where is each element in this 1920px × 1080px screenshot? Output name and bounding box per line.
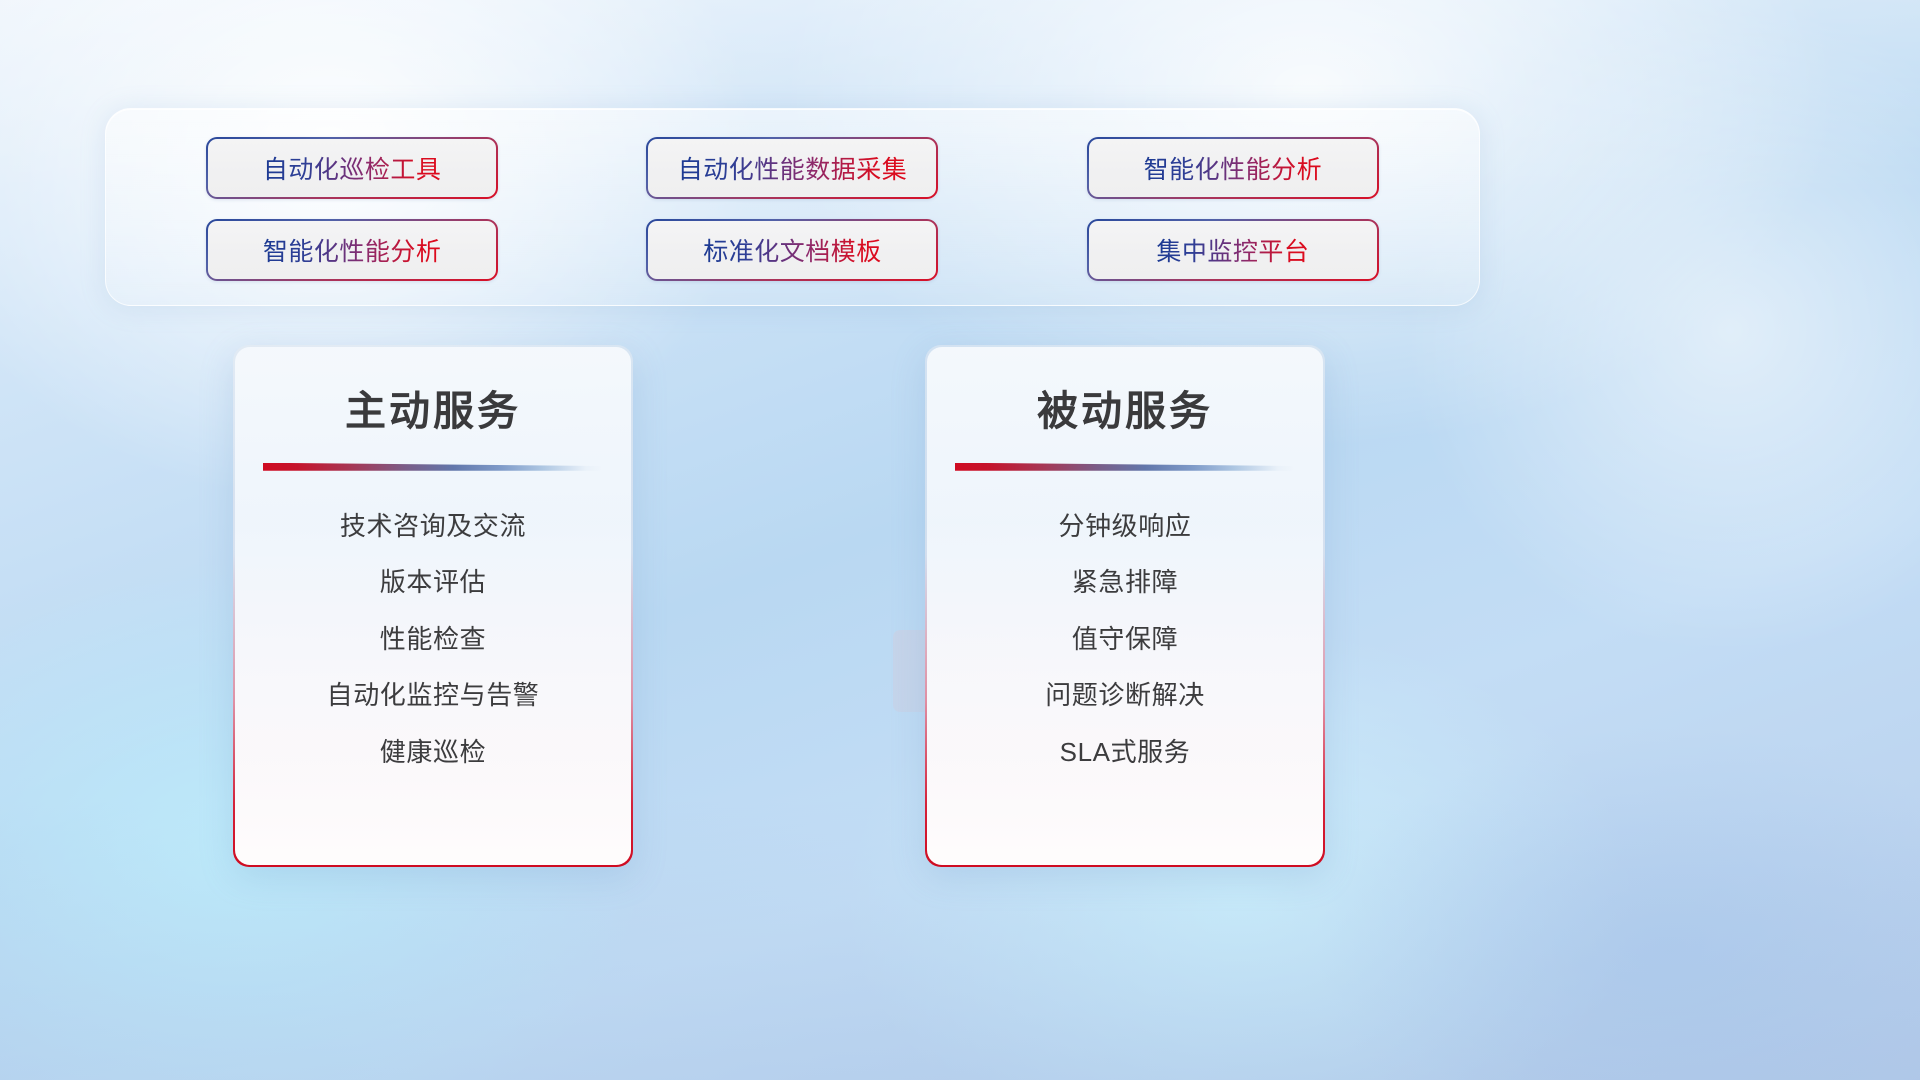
capability-tag[interactable]: 智能化性能分析 (1087, 137, 1379, 199)
capability-tag-label: 自动化性能数据采集 (678, 150, 908, 186)
capability-tag-label: 智能化性能分析 (263, 232, 442, 268)
service-card-proactive: 主动服务 技术咨询及交流 版本评估 性能检查 自动化监控与告警 健康巡检 (233, 345, 633, 867)
service-item-list: 分钟级响应 紧急排障 值守保障 问题诊断解决 SLA式服务 (951, 498, 1300, 781)
capability-tag-surface: 集中监控平台 (1089, 221, 1377, 279)
card-title-divider-bar (263, 463, 603, 471)
capability-panel: 自动化巡检工具 自动化性能数据采集 智能化性能分析 智能化性能分析 标准化文档模… (105, 108, 1480, 306)
card-title: 主动服务 (345, 389, 521, 434)
capability-tag-surface: 智能化性能分析 (208, 221, 496, 279)
capability-tag[interactable]: 自动化性能数据采集 (646, 137, 938, 199)
list-item: 技术咨询及交流 (340, 498, 526, 555)
slide-canvas: 自动化巡检工具 自动化性能数据采集 智能化性能分析 智能化性能分析 标准化文档模… (0, 0, 1920, 1080)
capability-tag-label: 标准化文档模板 (703, 232, 882, 268)
capability-tag-label: 智能化性能分析 (1144, 150, 1323, 186)
list-item: 紧急排障 (1072, 554, 1178, 611)
list-item: 性能检查 (380, 611, 486, 668)
card-title-divider (955, 460, 1295, 476)
list-item: 分钟级响应 (1058, 498, 1191, 555)
list-item: 自动化监控与告警 (327, 667, 540, 724)
card-title-divider (263, 460, 603, 476)
capability-tag[interactable]: 集中监控平台 (1087, 219, 1379, 281)
service-card-reactive: 被动服务 分钟级响应 紧急排障 值守保障 问题诊断解决 SLA式服务 (925, 345, 1325, 867)
list-item: 值守保障 (1072, 611, 1178, 668)
capability-tag-surface: 自动化性能数据采集 (648, 139, 936, 197)
list-item: SLA式服务 (1060, 724, 1191, 781)
capability-tag[interactable]: 标准化文档模板 (646, 219, 938, 281)
capability-tag[interactable]: 智能化性能分析 (206, 219, 498, 281)
capability-tag[interactable]: 自动化巡检工具 (206, 137, 498, 199)
capability-tag-label: 集中监控平台 (1156, 232, 1309, 268)
card-title: 被动服务 (1037, 389, 1213, 434)
capability-tag-surface: 标准化文档模板 (648, 221, 936, 279)
list-item: 问题诊断解决 (1045, 667, 1205, 724)
list-item: 健康巡检 (380, 724, 486, 781)
list-item: 版本评估 (380, 554, 486, 611)
capability-tag-surface: 自动化巡检工具 (208, 139, 496, 197)
service-card-surface: 被动服务 分钟级响应 紧急排障 值守保障 问题诊断解决 SLA式服务 (927, 347, 1324, 866)
card-title-divider-bar (955, 463, 1295, 471)
service-item-list: 技术咨询及交流 版本评估 性能检查 自动化监控与告警 健康巡检 (259, 498, 608, 781)
capability-tag-label: 自动化巡检工具 (263, 150, 442, 186)
service-card-surface: 主动服务 技术咨询及交流 版本评估 性能检查 自动化监控与告警 健康巡检 (235, 347, 632, 866)
capability-tag-surface: 智能化性能分析 (1089, 139, 1377, 197)
